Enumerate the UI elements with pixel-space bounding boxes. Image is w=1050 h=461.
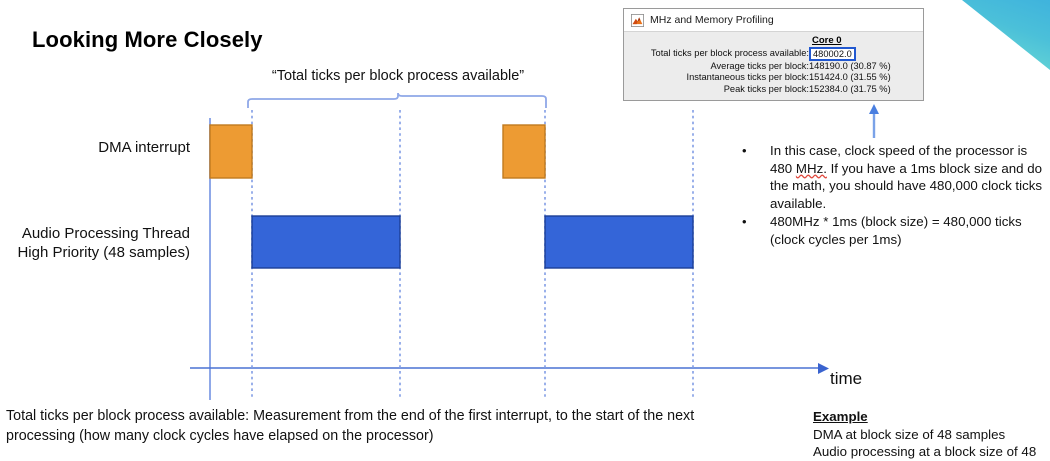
profiler-value-average-ticks: 148190.0 (30.87 %) <box>809 61 913 73</box>
example-heading: Example <box>813 408 1050 426</box>
bracket-caption: “Total ticks per block process available… <box>258 68 538 84</box>
bullet-0-misspelled-word: MHz. <box>796 161 827 176</box>
bullet-text-clock-speed: In this case, clock speed of the process… <box>770 142 1042 212</box>
example-block: Example DMA at block size of 48 samples … <box>813 408 1050 461</box>
table-row: Instantaneous ticks per block: 151424.0 … <box>624 72 913 84</box>
example-line-audio: Audio processing at a block size of 48 <box>813 443 1050 461</box>
row-label-audio-processing-thread: Audio Processing Thread High Priority (4… <box>0 224 190 262</box>
profiler-value-peak-ticks: 152384.0 (31.75 %) <box>809 84 913 96</box>
profiler-window-title: MHz and Memory Profiling <box>650 14 774 26</box>
bullet-list: • In this case, clock speed of the proce… <box>742 142 1042 249</box>
profiler-row-label-peak-ticks: Peak ticks per block: <box>624 84 809 96</box>
profiler-row-label-total-ticks: Total ticks per block process available: <box>624 47 809 61</box>
row-label-audio-line1: Audio Processing Thread <box>22 225 190 242</box>
dma-interrupt-pulses <box>210 125 545 178</box>
x-axis-label: time <box>830 369 862 389</box>
corner-decoration <box>962 0 1050 70</box>
profiler-value-instantaneous-ticks: 151424.0 (31.55 %) <box>809 72 913 84</box>
profiler-row-label-instantaneous-ticks: Instantaneous ticks per block: <box>624 72 809 84</box>
gridlines <box>252 110 693 400</box>
x-axis-arrow-icon <box>818 363 829 374</box>
bullet-marker-icon: • <box>742 213 770 248</box>
profiler-window[interactable]: MHz and Memory Profiling Core 0 Total ti… <box>623 8 924 101</box>
row-label-audio-line2: High Priority (48 samples) <box>17 244 190 261</box>
list-item: • 480MHz * 1ms (block size) = 480,000 ti… <box>742 213 1042 248</box>
list-item: • In this case, clock speed of the proce… <box>742 142 1042 212</box>
table-row: Peak ticks per block: 152384.0 (31.75 %) <box>624 84 913 96</box>
profiler-row-label-average-ticks: Average ticks per block: <box>624 61 809 73</box>
row-label-dma-interrupt: DMA interrupt <box>0 138 190 157</box>
bullet-marker-icon: • <box>742 142 770 212</box>
profiler-header-spacer <box>624 35 809 47</box>
bottom-caption: Total ticks per block process available:… <box>6 406 746 446</box>
table-row: Average ticks per block: 148190.0 (30.87… <box>624 61 913 73</box>
matlab-icon <box>631 14 644 27</box>
profiler-titlebar: MHz and Memory Profiling <box>624 9 923 32</box>
page-title: Looking More Closely <box>32 27 263 53</box>
profiler-column-header: Core 0 <box>809 35 842 46</box>
callout-arrow-icon <box>869 104 879 138</box>
profiler-table: Core 0 Total ticks per block process ava… <box>624 35 913 95</box>
measurement-bracket <box>248 93 546 108</box>
table-row: Total ticks per block process available:… <box>624 47 913 61</box>
profiler-body: Core 0 Total ticks per block process ava… <box>624 32 923 95</box>
audio-processing-blocks <box>252 216 693 268</box>
table-header-row: Core 0 <box>624 35 913 47</box>
profiler-value-total-ticks[interactable]: 480002.0 <box>809 47 856 61</box>
example-line-dma: DMA at block size of 48 samples <box>813 426 1050 444</box>
bullet-text-math: 480MHz * 1ms (block size) = 480,000 tick… <box>770 213 1042 248</box>
